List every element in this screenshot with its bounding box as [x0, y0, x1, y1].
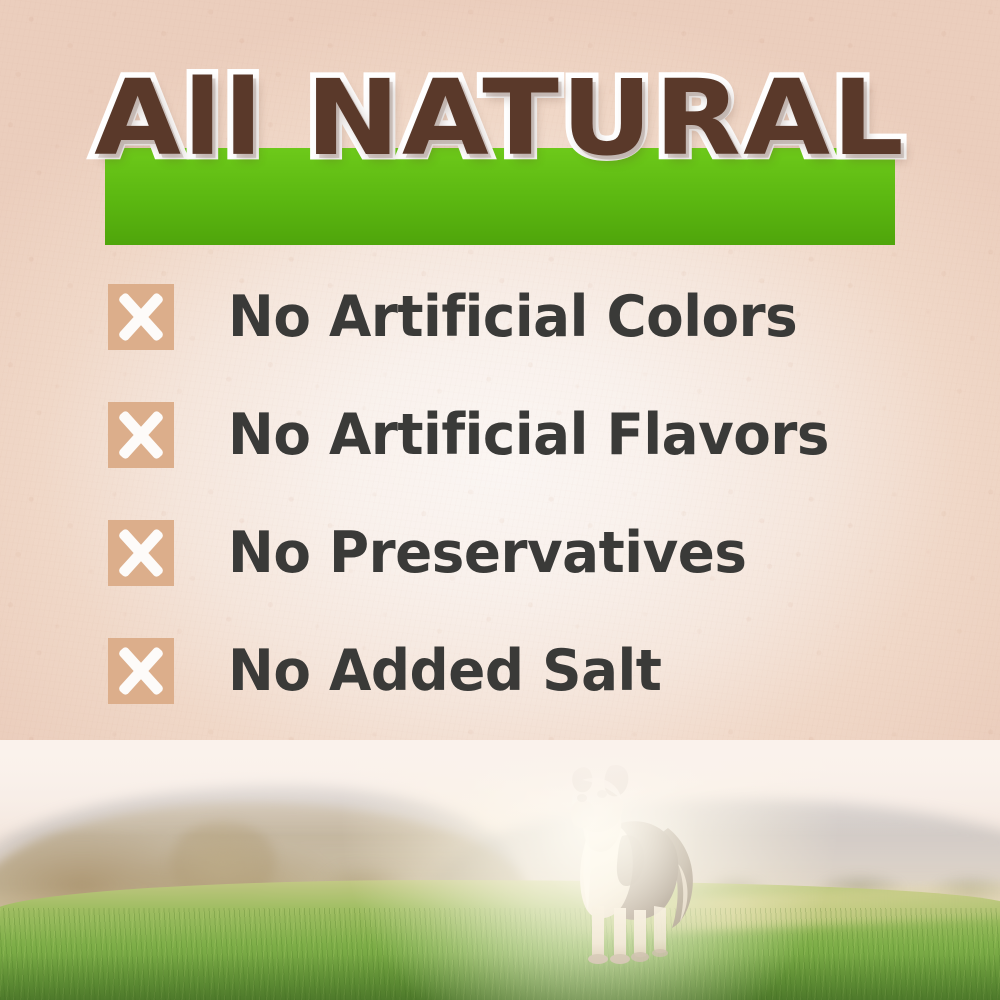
- x-mark-icon: [108, 402, 174, 468]
- page-title: All NATURAL: [0, 60, 1000, 176]
- border-collie-dog: [530, 758, 720, 966]
- list-item: No Artificial Flavors: [108, 376, 928, 494]
- meadow-foreground-shadow: [0, 954, 1000, 1000]
- list-item: No Preservatives: [108, 494, 928, 612]
- all-natural-product-poster: All NATURAL No Artificial Colors No Arti…: [0, 0, 1000, 1000]
- claims-list: No Artificial Colors No Artificial Flavo…: [108, 258, 928, 730]
- headline-banner: All NATURAL: [0, 60, 1000, 200]
- x-mark-icon: [108, 284, 174, 350]
- x-mark-icon: [108, 638, 174, 704]
- claim-label: No Added Salt: [228, 641, 661, 701]
- claim-label: No Artificial Colors: [228, 287, 797, 347]
- claim-label: No Artificial Flavors: [228, 405, 829, 465]
- x-mark-icon: [108, 520, 174, 586]
- dog-in-meadow-photo: [0, 740, 1000, 1000]
- list-item: No Artificial Colors: [108, 258, 928, 376]
- claim-label: No Preservatives: [228, 523, 747, 583]
- list-item: No Added Salt: [108, 612, 928, 730]
